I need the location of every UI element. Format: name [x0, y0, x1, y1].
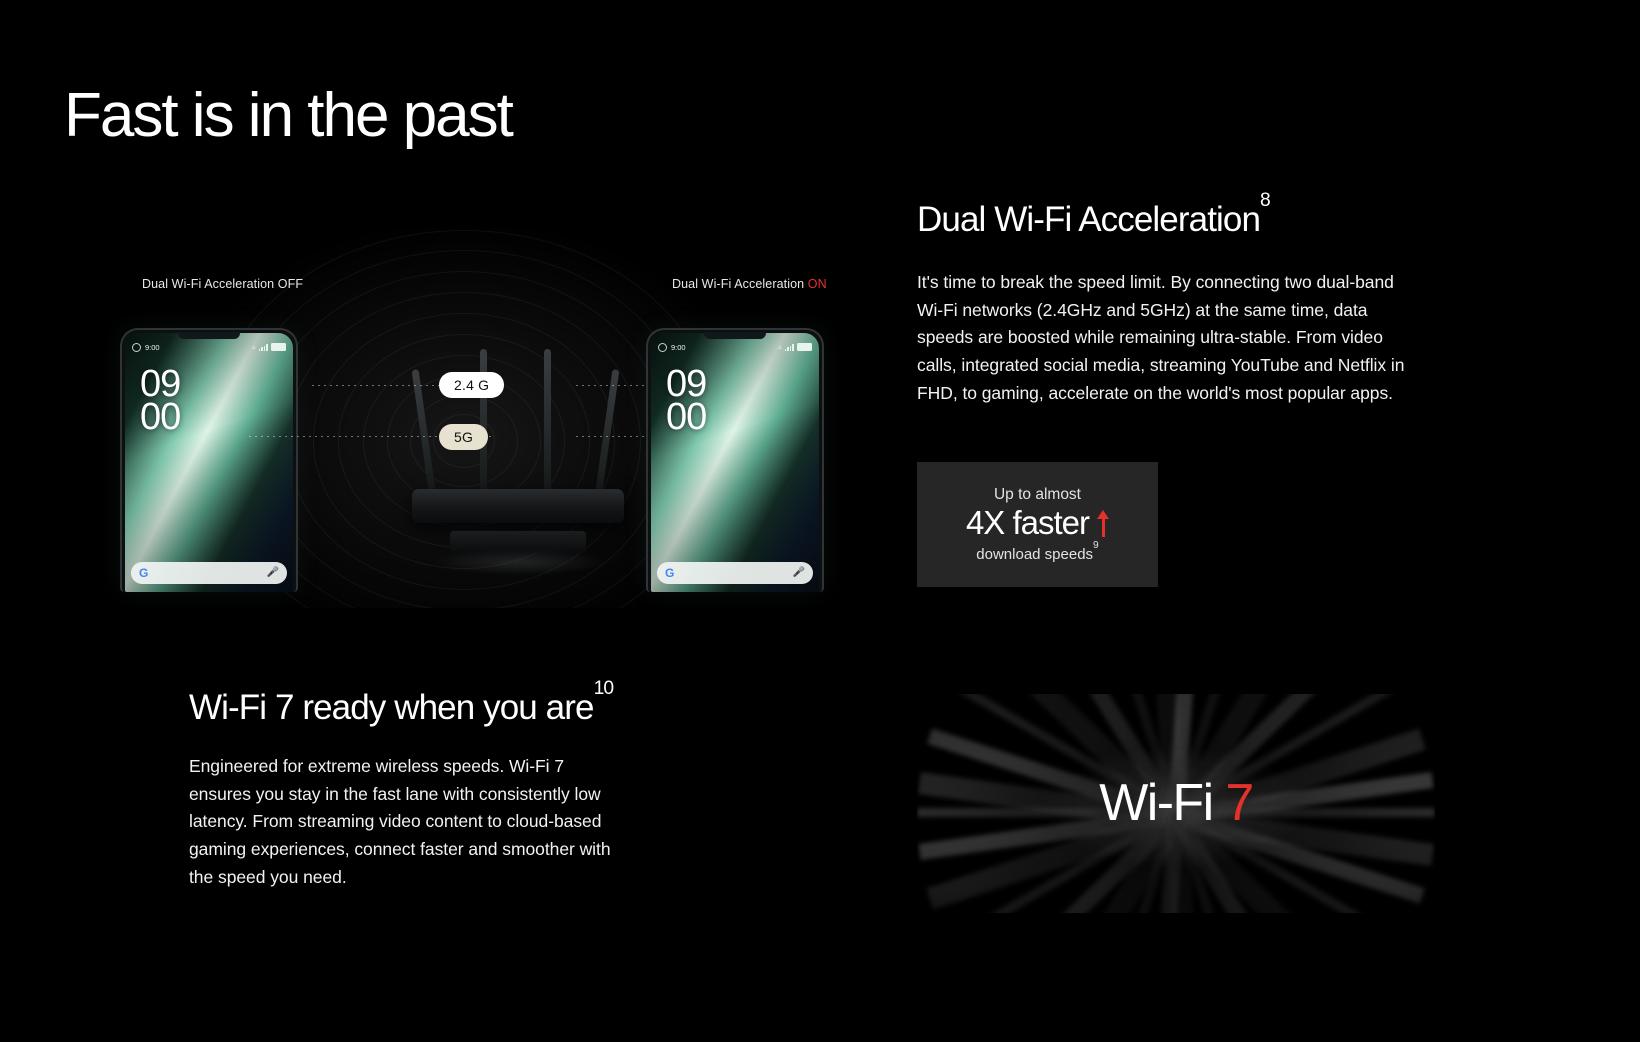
router-antenna: [412, 369, 436, 491]
status-bar-right: ▵: [778, 343, 812, 351]
router-antenna: [596, 369, 620, 491]
phone-notch: [178, 332, 240, 339]
status-bar-left: 9:00: [658, 343, 686, 352]
dual-wifi-heading-text: Dual Wi-Fi Acceleration: [917, 200, 1260, 239]
phone-acceleration-on: 9:00 ▵ 09 00 G 🎤: [646, 328, 824, 592]
wifi7-heading: Wi-Fi 7 ready when you are10: [189, 688, 659, 727]
page-root: Fast is in the past Dual Wi-Fi Accelerat…: [0, 0, 1640, 1042]
wifi7-panel-label: Wi-Fi 7: [917, 776, 1435, 828]
label-acceleration-on-state: ON: [808, 277, 827, 291]
router-antenna: [480, 349, 487, 491]
router-antenna: [544, 349, 551, 491]
camera-dot-icon: [132, 343, 141, 352]
camera-dot-icon: [658, 343, 667, 352]
status-bar-time: 9:00: [671, 343, 686, 352]
band-badge-5g: 5G: [439, 424, 488, 450]
dual-wifi-illustration: Dual Wi-Fi Acceleration OFF Dual Wi-Fi A…: [64, 228, 864, 608]
wifi-icon: ▵: [778, 344, 782, 351]
stat-card-bottom-text: download speeds: [976, 546, 1093, 563]
wifi7-text-block: Wi-Fi 7 ready when you are10 Engineered …: [189, 688, 659, 891]
wifi7-heading-footnote: 10: [594, 678, 614, 699]
google-logo-icon: G: [139, 567, 148, 579]
phone-google-search-bar: G 🎤: [657, 562, 813, 584]
wifi7-panel-label-prefix: Wi-Fi: [1099, 773, 1225, 831]
arrow-up-icon: [1097, 508, 1109, 538]
status-bar-left: 9:00: [132, 343, 160, 352]
stat-card-bottom-label: download speeds9: [976, 545, 1098, 563]
clock-minute: 00: [140, 401, 180, 434]
stat-card-top-label: Up to almost: [994, 486, 1081, 504]
battery-icon: [271, 343, 286, 351]
stat-card-value-row: 4X faster: [966, 506, 1109, 539]
phone-notch: [704, 332, 766, 339]
dual-wifi-heading-footnote: 8: [1260, 190, 1270, 211]
wifi-icon: ▵: [252, 344, 256, 351]
microphone-icon: 🎤: [267, 568, 279, 578]
phone-lockscreen-clock: 09 00: [140, 368, 180, 433]
phone-google-search-bar: G 🎤: [131, 562, 287, 584]
band-badge-2-4g: 2.4 G: [439, 372, 504, 398]
microphone-icon: 🎤: [793, 568, 805, 578]
page-title: Fast is in the past: [64, 84, 512, 148]
phone-status-bar: 9:00 ▵: [122, 340, 296, 354]
clock-minute: 00: [666, 401, 706, 434]
signal-bars-icon: [259, 344, 268, 351]
dual-wifi-text-block: Dual Wi-Fi Acceleration8 It's time to br…: [917, 200, 1427, 407]
dual-wifi-body: It's time to break the speed limit. By c…: [917, 269, 1409, 407]
wifi-router-graphic: [404, 338, 634, 583]
wifi7-heading-text: Wi-Fi 7 ready when you are: [189, 688, 594, 727]
wifi7-speed-tunnel-image: Wi-Fi 7: [917, 694, 1435, 913]
download-speed-stat-card: Up to almost 4X faster download speeds9: [917, 462, 1158, 587]
stat-card-value: 4X faster: [966, 506, 1089, 539]
phone-lockscreen-clock: 09 00: [666, 368, 706, 433]
router-body: [412, 489, 624, 523]
router-reflection: [434, 549, 604, 575]
label-acceleration-off: Dual Wi-Fi Acceleration OFF: [142, 277, 303, 291]
stat-card-bottom-footnote: 9: [1093, 540, 1099, 551]
status-bar-time: 9:00: [145, 343, 160, 352]
signal-bars-icon: [785, 344, 794, 351]
phone-status-bar: 9:00 ▵: [648, 340, 822, 354]
label-acceleration-on-prefix: Dual Wi-Fi Acceleration: [672, 277, 808, 291]
google-logo-icon: G: [665, 567, 674, 579]
status-bar-right: ▵: [252, 343, 286, 351]
phone-acceleration-off: 9:00 ▵ 09 00 G 🎤: [120, 328, 298, 592]
label-acceleration-on: Dual Wi-Fi Acceleration ON: [672, 277, 827, 291]
wifi7-body: Engineered for extreme wireless speeds. …: [189, 753, 621, 891]
dual-wifi-heading: Dual Wi-Fi Acceleration8: [917, 200, 1427, 239]
battery-icon: [797, 343, 812, 351]
wifi7-panel-label-highlight: 7: [1225, 773, 1252, 831]
